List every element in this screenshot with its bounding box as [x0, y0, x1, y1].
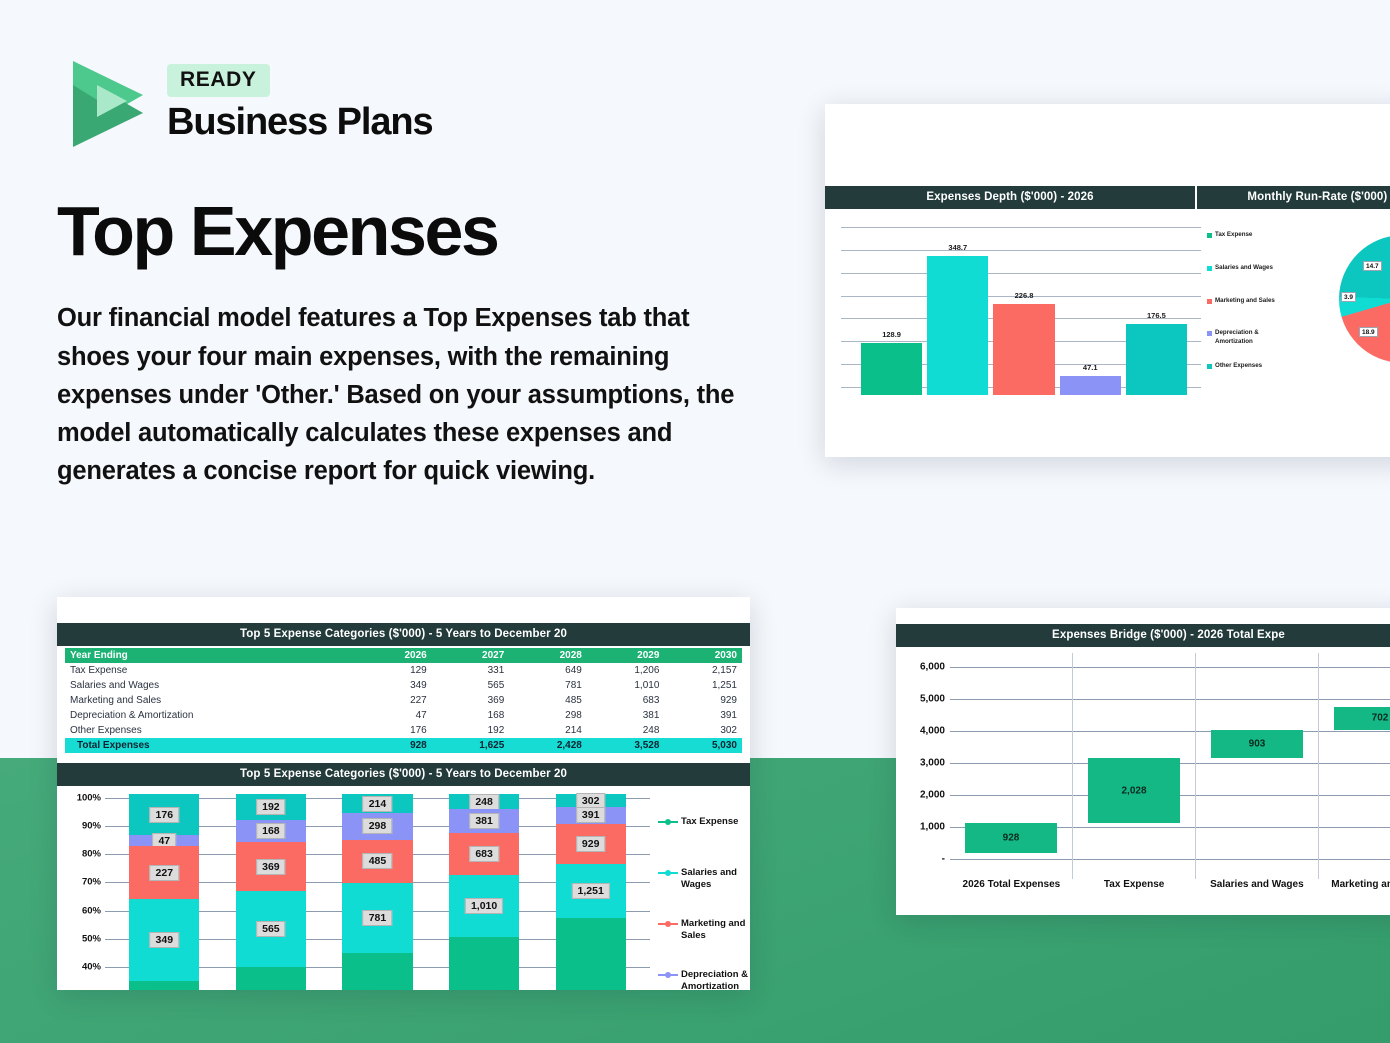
- legend-label: Marketing and Sales: [681, 918, 750, 942]
- table-col-header: 2027: [432, 648, 510, 663]
- table-cell: 2,428: [509, 738, 587, 753]
- block-value-label: 903: [1249, 738, 1266, 749]
- expenses-depth-chart: 128.9348.7226.847.1176.5: [841, 215, 1201, 395]
- table-cell: 214: [509, 723, 587, 738]
- legend-label: Marketing and Sales: [1215, 297, 1275, 330]
- legend-swatch-icon: [1207, 364, 1212, 369]
- legend-marker-icon: [658, 970, 678, 979]
- stack-segment: [556, 918, 626, 990]
- table-header-row: Year Ending20262027202820292030: [65, 648, 742, 663]
- table-cell: 168: [432, 708, 510, 723]
- bar-0: 128.9: [861, 343, 922, 395]
- pie-label-other: 18.9: [1359, 327, 1378, 337]
- table-cell: Marketing and Sales: [65, 693, 360, 708]
- table-row: Tax Expense1293316491,2062,157: [65, 663, 742, 678]
- y-tick-label: 1,000: [920, 822, 945, 833]
- waterfall-block: 928: [965, 823, 1058, 853]
- segment-value-label: 485: [363, 853, 393, 869]
- segment-value-label: 381: [469, 813, 499, 829]
- y-tick-label: 100%: [77, 793, 101, 804]
- segment-value-label: 168: [256, 823, 286, 839]
- table-cell: 349: [360, 678, 431, 693]
- table-cell: 176: [360, 723, 431, 738]
- table-row: Depreciation & Amortization4716829838139…: [65, 708, 742, 723]
- stacked-bar-2026: 17647227349: [111, 794, 218, 990]
- x-tick-label: 2026 Total Expenses: [950, 879, 1073, 905]
- legend-item-2: Marketing and Sales: [1207, 297, 1293, 330]
- segment-value-label: 298: [363, 818, 393, 834]
- y-tick-label: 40%: [82, 961, 101, 972]
- table-cell: 5,030: [664, 738, 742, 753]
- y-tick-label: 2,000: [920, 790, 945, 801]
- bar-4: 176.5: [1126, 324, 1187, 395]
- hero-description: Our financial model features a Top Expen…: [57, 299, 757, 490]
- bar-series: 128.9348.7226.847.1176.5: [861, 235, 1187, 395]
- table-cell: 381: [587, 708, 665, 723]
- table-cell: Other Expenses: [65, 723, 360, 738]
- legend-item-2: Marketing and Sales: [658, 918, 750, 969]
- table-col-header: 2029: [587, 648, 665, 663]
- segment-value-label: 929: [576, 836, 606, 852]
- expense-categories-card: Top 5 Expense Categories ($'000) - 5 Yea…: [57, 597, 750, 990]
- segment-value-label: 214: [363, 796, 393, 812]
- waterfall-col-1: 2,028: [1073, 653, 1196, 879]
- stack-segment: 214: [342, 794, 412, 813]
- stacked-chart-legend: Tax ExpenseSalaries and WagesMarketing a…: [650, 794, 750, 990]
- y-tick-label: 5,000: [920, 694, 945, 705]
- waterfall-col-0: 928: [950, 653, 1073, 879]
- table-cell: Salaries and Wages: [65, 678, 360, 693]
- chart-legend: Tax ExpenseSalaries and WagesMarketing a…: [1201, 215, 1293, 395]
- play-arrow-logo-icon: [57, 55, 149, 153]
- y-tick-label: 60%: [82, 905, 101, 916]
- stack-segment: 349: [129, 899, 199, 981]
- bar-1: 348.7: [927, 256, 988, 395]
- table-cell: 47: [360, 708, 431, 723]
- brand-logo: READY Business Plans: [57, 55, 433, 153]
- legend-swatch-icon: [1207, 266, 1212, 271]
- legend-label: Other Expenses: [1215, 362, 1262, 395]
- stack-segment: 227: [129, 846, 199, 899]
- expense-table-title: Top 5 Expense Categories ($'000) - 5 Yea…: [57, 623, 750, 646]
- segment-value-label: 349: [150, 932, 180, 948]
- expenses-depth-title: Expenses Depth ($'000) - 2026: [825, 186, 1195, 209]
- table-cell: 227: [360, 693, 431, 708]
- waterfall-block: 903: [1211, 730, 1304, 759]
- ready-badge: READY: [167, 64, 270, 97]
- segment-value-label: 192: [256, 799, 286, 815]
- legend-label: Salaries and Wages: [681, 867, 750, 891]
- block-value-label: 2,028: [1121, 785, 1146, 796]
- table-cell: 369: [432, 693, 510, 708]
- stack-segment: 298: [342, 813, 412, 840]
- legend-item-0: Tax Expense: [658, 816, 750, 867]
- stacked-bar-2029: 2483816831,010: [431, 794, 538, 990]
- stack-segment: 168: [236, 820, 306, 842]
- monthly-runrate-pie-chart: 10.7 14.7 3.9 18.9: [1293, 215, 1390, 395]
- block-value-label: 702: [1372, 713, 1389, 724]
- segment-value-label: 176: [150, 807, 180, 823]
- table-cell: 298: [509, 708, 587, 723]
- bridge-chart-plot: 9282,028903702: [950, 653, 1390, 879]
- table-cell: 929: [664, 693, 742, 708]
- bridge-chart-y-axis: 6,0005,0004,0003,0002,0001,000-: [896, 653, 950, 879]
- brand-name: Business Plans: [167, 101, 433, 144]
- table-cell: 928: [360, 738, 431, 753]
- table-cell: 649: [509, 663, 587, 678]
- block-value-label: 928: [1003, 833, 1020, 844]
- table-cell: 683: [587, 693, 665, 708]
- stack-segment: [342, 953, 412, 990]
- table-cell: 781: [509, 678, 587, 693]
- stacked-chart-title: Top 5 Expense Categories ($'000) - 5 Yea…: [57, 763, 750, 786]
- table-cell: 485: [509, 693, 587, 708]
- segment-value-label: 781: [363, 910, 393, 926]
- table-col-header: 2026: [360, 648, 431, 663]
- y-tick-label: 4,000: [920, 726, 945, 737]
- legend-swatch-icon: [1207, 331, 1212, 336]
- x-tick-label: Salaries and Wages: [1196, 879, 1319, 905]
- segment-value-label: 1,010: [465, 898, 503, 914]
- legend-marker-icon: [658, 817, 678, 826]
- legend-swatch-icon: [1207, 299, 1212, 304]
- stack-segment: 683: [449, 833, 519, 875]
- table-row: Other Expenses176192214248302: [65, 723, 742, 738]
- stack-segment: 176: [129, 794, 199, 835]
- table-cell: 129: [360, 663, 431, 678]
- table-cell: 302: [664, 723, 742, 738]
- x-tick-label: Marketing and Sales: [1318, 879, 1390, 905]
- segment-value-label: 683: [469, 846, 499, 862]
- table-cell: 1,625: [432, 738, 510, 753]
- y-tick-label: 50%: [82, 933, 101, 944]
- table-col-header: 2030: [664, 648, 742, 663]
- segment-value-label: 227: [150, 865, 180, 881]
- table-cell: 3,528: [587, 738, 665, 753]
- table-cell: 192: [432, 723, 510, 738]
- table-total-row: Total Expenses9281,6252,4283,5285,030: [65, 738, 742, 753]
- x-tick-label: Tax Expense: [1073, 879, 1196, 905]
- stack-segment: 391: [556, 807, 626, 824]
- segment-value-label: 369: [256, 859, 286, 875]
- segment-value-label: 391: [576, 807, 606, 823]
- stack-segment: 47: [129, 835, 199, 846]
- y-tick-label: 70%: [82, 877, 101, 888]
- legend-label: Tax Expense: [681, 816, 738, 828]
- waterfall-block: 2,028: [1088, 758, 1181, 823]
- y-tick-label: 30%: [82, 990, 101, 991]
- table-row: Marketing and Sales227369485683929: [65, 693, 742, 708]
- table-cell: 391: [664, 708, 742, 723]
- table-cell: 1,251: [664, 678, 742, 693]
- legend-item-1: Salaries and Wages: [1207, 264, 1293, 297]
- y-tick-label: 90%: [82, 821, 101, 832]
- waterfall-col-3: 702: [1319, 653, 1390, 879]
- table-cell: 331: [432, 663, 510, 678]
- legend-item-4: Other Expenses: [1207, 362, 1293, 395]
- table-cell: Tax Expense: [65, 663, 360, 678]
- stack-segment: [236, 967, 306, 990]
- bar-3: 47.1: [1060, 376, 1121, 395]
- stack-segment: 302: [556, 794, 626, 807]
- y-tick-label: 80%: [82, 849, 101, 860]
- table-cell: Total Expenses: [65, 738, 360, 753]
- legend-item-3: Depreciation & Amortization: [1207, 329, 1293, 362]
- table-cell: Depreciation & Amortization: [65, 708, 360, 723]
- legend-item-1: Salaries and Wages: [658, 867, 750, 918]
- table-cell: 1,010: [587, 678, 665, 693]
- legend-label: Salaries and Wages: [1215, 264, 1273, 297]
- expenses-bridge-title: Expenses Bridge ($'000) - 2026 Total Exp…: [896, 624, 1390, 647]
- stacked-chart-y-axis: 100%90%80%70%60%50%40%30%: [57, 794, 105, 990]
- segment-value-label: 248: [469, 794, 499, 810]
- legend-marker-icon: [658, 919, 678, 928]
- y-tick-label: 6,000: [920, 662, 945, 673]
- legend-swatch-icon: [1207, 233, 1212, 238]
- table-body: Tax Expense1293316491,2062,157Salaries a…: [65, 663, 742, 753]
- page-title: Top Expenses: [57, 196, 757, 267]
- legend-item-3: Depreciation & Amortization: [658, 969, 750, 990]
- waterfall-col-2: 903: [1196, 653, 1319, 879]
- waterfall-block: 702: [1334, 707, 1390, 729]
- table-cell: 248: [587, 723, 665, 738]
- table-cell: 1,206: [587, 663, 665, 678]
- segment-value-label: 1,251: [572, 883, 610, 899]
- table-cell: 2,157: [664, 663, 742, 678]
- legend-item-0: Tax Expense: [1207, 231, 1293, 264]
- y-tick-label: 3,000: [920, 758, 945, 769]
- stack-segment: [449, 937, 519, 990]
- legend-label: Depreciation & Amortization: [681, 969, 750, 990]
- legend-label: Tax Expense: [1215, 231, 1252, 264]
- stack-segment: 565: [236, 891, 306, 966]
- bar-2: 226.8: [993, 304, 1054, 395]
- stack-segment: 1,010: [449, 875, 519, 937]
- stacked-bar-2028: 214298485781: [324, 794, 431, 990]
- y-tick-label: -: [942, 854, 945, 865]
- stack-segment: 192: [236, 794, 306, 820]
- expenses-depth-card: Expenses Depth ($'000) - 2026 Monthly Ru…: [825, 104, 1390, 457]
- stack-segment: [129, 981, 199, 990]
- hero-section: Top Expenses Our financial model feature…: [57, 196, 757, 491]
- waterfall-series: 9282,028903702: [950, 653, 1390, 879]
- stacked-bar-2027: 192168369565: [218, 794, 325, 990]
- stacked-bar-2030: 3023919291,251: [537, 794, 644, 990]
- expense-categories-table: Year Ending20262027202820292030 Tax Expe…: [65, 648, 742, 753]
- stacked-chart-plot: 1764722734919216836956521429848578124838…: [105, 794, 650, 990]
- table-row: Salaries and Wages3495657811,0101,251: [65, 678, 742, 693]
- pie-label-salaries: 3.9: [1341, 292, 1356, 302]
- stack-segment: 248: [449, 794, 519, 809]
- table-col-header: Year Ending: [65, 648, 360, 663]
- stack-segment: 369: [236, 842, 306, 891]
- bridge-chart-x-labels: 2026 Total ExpensesTax ExpenseSalaries a…: [896, 879, 1390, 905]
- stack-segment: 781: [342, 883, 412, 953]
- stack-segment: 1,251: [556, 864, 626, 918]
- monthly-runrate-title: Monthly Run-Rate ($'000) -: [1195, 186, 1390, 209]
- segment-value-label: 565: [256, 921, 286, 937]
- pie-label-marketing: 14.7: [1363, 261, 1382, 271]
- legend-label: Depreciation & Amortization: [1215, 329, 1293, 362]
- stack-segment: 485: [342, 840, 412, 883]
- legend-marker-icon: [658, 868, 678, 877]
- expenses-bridge-card: Expenses Bridge ($'000) - 2026 Total Exp…: [896, 608, 1390, 915]
- table-col-header: 2028: [509, 648, 587, 663]
- stack-segment: 929: [556, 824, 626, 864]
- stack-segment: 381: [449, 809, 519, 832]
- stacked-bar-series: 1764722734919216836956521429848578124838…: [105, 794, 650, 990]
- table-cell: 565: [432, 678, 510, 693]
